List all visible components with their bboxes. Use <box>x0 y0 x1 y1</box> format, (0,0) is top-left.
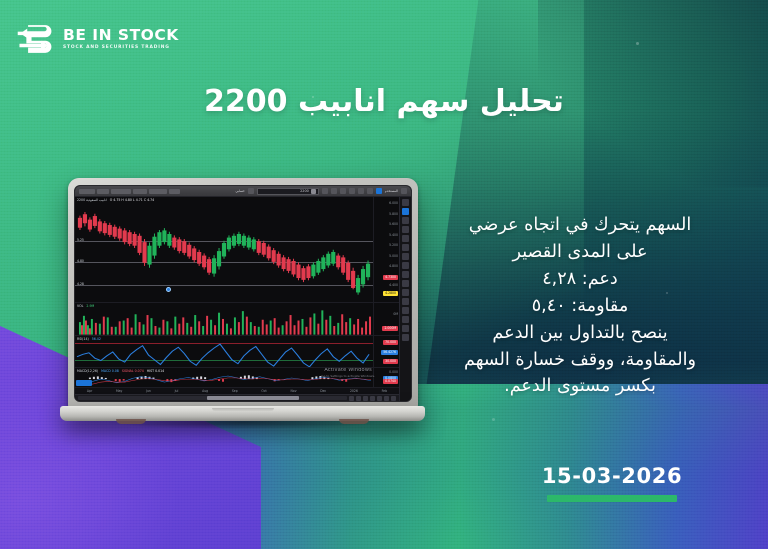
zoom-out-icon[interactable] <box>349 396 354 401</box>
axis-tick: 0.000 <box>389 370 398 374</box>
indicator-icon[interactable] <box>331 188 337 194</box>
left-price-label: 5.25 <box>77 238 84 242</box>
watermark-subtitle: Go to Settings to activate Windows. <box>321 374 375 378</box>
trendline-icon[interactable] <box>402 208 409 215</box>
analysis-line: ينصح بالتداول بين الدعم <box>420 320 740 347</box>
macd-label: MACD 0.08 <box>101 369 119 373</box>
refresh-icon[interactable] <box>358 188 364 194</box>
right-toolbar-rail <box>399 197 411 401</box>
price-pane-ohlc: O 4.75 H 4.80 L 4.71 C 4.74 <box>110 198 154 202</box>
date-underline <box>547 495 677 502</box>
volume-title: VOL <box>77 304 83 308</box>
rsi-pane-header: RSI(14) 56.42 <box>77 337 101 341</box>
layout-icon[interactable] <box>363 396 368 401</box>
brand-text: BE IN STOCK STOCK AND SECURITIES TRADING <box>63 28 179 51</box>
vertical-line-icon[interactable] <box>402 226 409 233</box>
time-tick: Jul <box>175 389 179 393</box>
rsi-line <box>75 341 373 368</box>
shapes-icon[interactable] <box>402 235 409 242</box>
fibonacci-icon[interactable] <box>402 244 409 251</box>
time-tick: Apr <box>87 389 92 393</box>
time-tick: May <box>116 389 122 393</box>
laptop-foot <box>339 419 369 424</box>
signal-tag: 0.0740 <box>383 379 398 384</box>
macd-title: MACD(12,26) <box>77 369 98 373</box>
lock-icon[interactable] <box>402 298 409 305</box>
volume-value: 2.9M <box>86 304 94 308</box>
menu-chip[interactable] <box>169 189 180 194</box>
rsi-title: RSI(14) <box>77 337 89 341</box>
left-price-label: 4.80 <box>77 259 84 263</box>
macd-pane-header: MACD(12,26) MACD 0.08 SIGNAL 0.074 HIST … <box>77 369 164 373</box>
grid-icon[interactable] <box>356 396 361 401</box>
measure-icon[interactable] <box>402 280 409 287</box>
sparkle-dot <box>492 418 495 421</box>
time-tick: Dec <box>320 389 326 393</box>
pitchfork-icon[interactable] <box>402 262 409 269</box>
axis-tick: 6.000 <box>389 201 398 205</box>
time-tick: Oct <box>261 389 266 393</box>
watermark-title: Activate Windows <box>321 368 375 373</box>
search-icon[interactable] <box>311 189 316 194</box>
magnet-icon[interactable] <box>402 289 409 296</box>
laptop-foot <box>116 419 146 424</box>
price-pane-header: انابيب السعودية 2200 O 4.75 H 4.80 L 4.7… <box>77 198 154 202</box>
window-controls-icon[interactable] <box>401 188 407 194</box>
scrollbar-thumb[interactable] <box>207 396 298 400</box>
pattern-icon[interactable] <box>402 253 409 260</box>
bell-icon[interactable] <box>376 188 382 194</box>
symbol-search-input[interactable]: 2200 <box>257 188 319 195</box>
poster-canvas: BE IN STOCK STOCK AND SECURITIES TRADING… <box>0 0 768 549</box>
trading-terminal: حسابي 2200 المستخدم <box>75 186 411 401</box>
rsi-tag: 70.000 <box>383 340 398 345</box>
horizontal-scrollbar[interactable] <box>78 396 347 400</box>
menu-chip[interactable] <box>97 189 109 194</box>
marker-price-tag: 4.2800 <box>383 291 398 296</box>
analysis-line-resistance: مقاومة: ٥,٤٠ <box>420 293 740 320</box>
time-tick: Jun <box>146 389 151 393</box>
price-pane-title: انابيب السعودية 2200 <box>77 198 107 202</box>
drawing-tools-icon[interactable] <box>340 188 346 194</box>
analysis-text-block: السهم يتحرك في اتجاه عرضي على المدى القص… <box>420 212 740 400</box>
candlestick-icon[interactable] <box>322 188 328 194</box>
axis-tick: 5.800 <box>389 212 398 216</box>
axis-tick: 5.600 <box>389 222 398 226</box>
emoji-icon[interactable] <box>402 325 409 332</box>
fullscreen-icon[interactable] <box>377 396 382 401</box>
analysis-line: السهم يتحرك في اتجاه عرضي <box>420 212 740 239</box>
gear-icon[interactable] <box>367 188 373 194</box>
price-chart-pane[interactable]: انابيب السعودية 2200 O 4.75 H 4.80 L 4.7… <box>75 197 399 303</box>
chart-mode-button[interactable] <box>76 380 92 386</box>
brand-name: BE IN STOCK <box>63 28 179 44</box>
horizontal-line-icon[interactable] <box>402 217 409 224</box>
windows-activation-watermark: Activate Windows Go to Settings to activ… <box>321 368 375 378</box>
time-tick: 2026 <box>350 389 358 393</box>
symbol-code: 2200 <box>300 189 309 193</box>
brand-logo: BE IN STOCK STOCK AND SECURITIES TRADING <box>16 20 179 58</box>
snapshot-icon[interactable] <box>370 396 375 401</box>
visibility-icon[interactable] <box>402 307 409 314</box>
axis-tick: 4.800 <box>389 264 398 268</box>
chart-column: انابيب السعودية 2200 O 4.75 H 4.80 L 4.7… <box>75 197 399 401</box>
candlestick-series <box>75 203 373 300</box>
menu-chip[interactable] <box>149 189 167 194</box>
rsi-axis[interactable]: 70.000 56.4276 30.000 <box>373 336 399 368</box>
page-title: تحليل سهم انابيب 2200 <box>0 84 768 119</box>
macd-pane[interactable]: MACD(12,26) MACD 0.08 SIGNAL 0.074 HIST … <box>75 368 399 387</box>
time-axis[interactable]: Apr May Jun Jul Aug Sep Oct Nov Dec 2026 <box>75 387 399 394</box>
left-price-label: 4.28 <box>77 282 84 286</box>
terminal-body: انابيب السعودية 2200 O 4.75 H 4.80 L 4.7… <box>75 197 411 401</box>
rsi-value: 56.42 <box>92 337 101 341</box>
volume-bars <box>75 308 373 335</box>
menu-chip[interactable] <box>79 189 95 194</box>
rsi-pane[interactable]: RSI(14) 56.42 70.000 56.4 <box>75 336 399 369</box>
axis-tick: 4.400 <box>389 283 398 287</box>
brand-tagline: STOCK AND SECURITIES TRADING <box>63 46 179 50</box>
analysis-line: على المدى القصير <box>420 239 740 266</box>
toolbar-account-label: حسابي <box>235 189 244 193</box>
delete-icon[interactable] <box>402 334 409 341</box>
toolbar-left-group <box>79 189 232 194</box>
price-axis[interactable]: 6.000 5.800 5.600 5.400 5.200 5.000 4.80… <box>373 197 399 302</box>
analysis-line: والمقاومة، ووقف خسارة السهم <box>420 347 740 374</box>
hist-label: HIST 0.014 <box>147 369 164 373</box>
axis-tick: 5.400 <box>389 233 398 237</box>
last-price-tag: 4.7300 <box>383 275 398 280</box>
time-tick: Nov <box>290 389 296 393</box>
back-arrow-icon[interactable] <box>349 188 355 194</box>
axis-tick: 5.000 <box>389 254 398 258</box>
rsi-tag: 56.4276 <box>381 350 398 355</box>
terminal-toolbar: حسابي 2200 المستخدم <box>75 186 411 197</box>
sparkle-dot <box>636 42 639 45</box>
volume-axis[interactable]: 0M 2.000M <box>373 303 399 335</box>
signal-label: SIGNAL 0.074 <box>122 369 144 373</box>
time-tick: Aug <box>202 389 208 393</box>
analysis-line: بكسر مستوى الدعم. <box>420 373 740 400</box>
date-label: 15-03-2026 <box>526 464 698 488</box>
laptop-notch <box>212 408 274 411</box>
brush-icon[interactable] <box>402 316 409 323</box>
text-tool-icon[interactable] <box>402 271 409 278</box>
time-tick: Feb <box>382 389 387 393</box>
date-block: 15-03-2026 <box>526 464 698 502</box>
cursor-icon[interactable] <box>402 199 409 206</box>
reset-zoom-icon[interactable] <box>391 396 396 401</box>
laptop-mockup: حسابي 2200 المستخدم <box>60 178 425 436</box>
volume-tag: 2.000M <box>382 326 398 331</box>
rsi-tag: 30.000 <box>383 359 398 364</box>
laptop-screen: حسابي 2200 المستخدم <box>74 185 412 402</box>
toolbar-user-label: المستخدم <box>385 189 398 193</box>
menu-chip[interactable] <box>111 189 131 194</box>
volume-pane-header: VOL 2.9M <box>77 304 94 308</box>
laptop-lid: حسابي 2200 المستخدم <box>68 178 418 410</box>
axis-tick: 5.200 <box>389 243 398 247</box>
laptop-base <box>60 406 425 421</box>
macd-axis[interactable]: 0.000 0.0800 0.0740 <box>373 368 399 387</box>
menu-chip[interactable] <box>133 189 147 194</box>
analysis-line-support: دعم: ٤,٢٨ <box>420 266 740 293</box>
time-tick: Sep <box>232 389 238 393</box>
double-arrow-b-logo-icon <box>16 20 54 58</box>
user-icon[interactable] <box>248 188 254 194</box>
volume-pane[interactable]: VOL 2.9M <box>75 303 399 336</box>
chart-bottom-bar <box>75 394 399 401</box>
axis-tick: 0M <box>393 312 398 316</box>
zoom-in-icon[interactable] <box>384 396 389 401</box>
